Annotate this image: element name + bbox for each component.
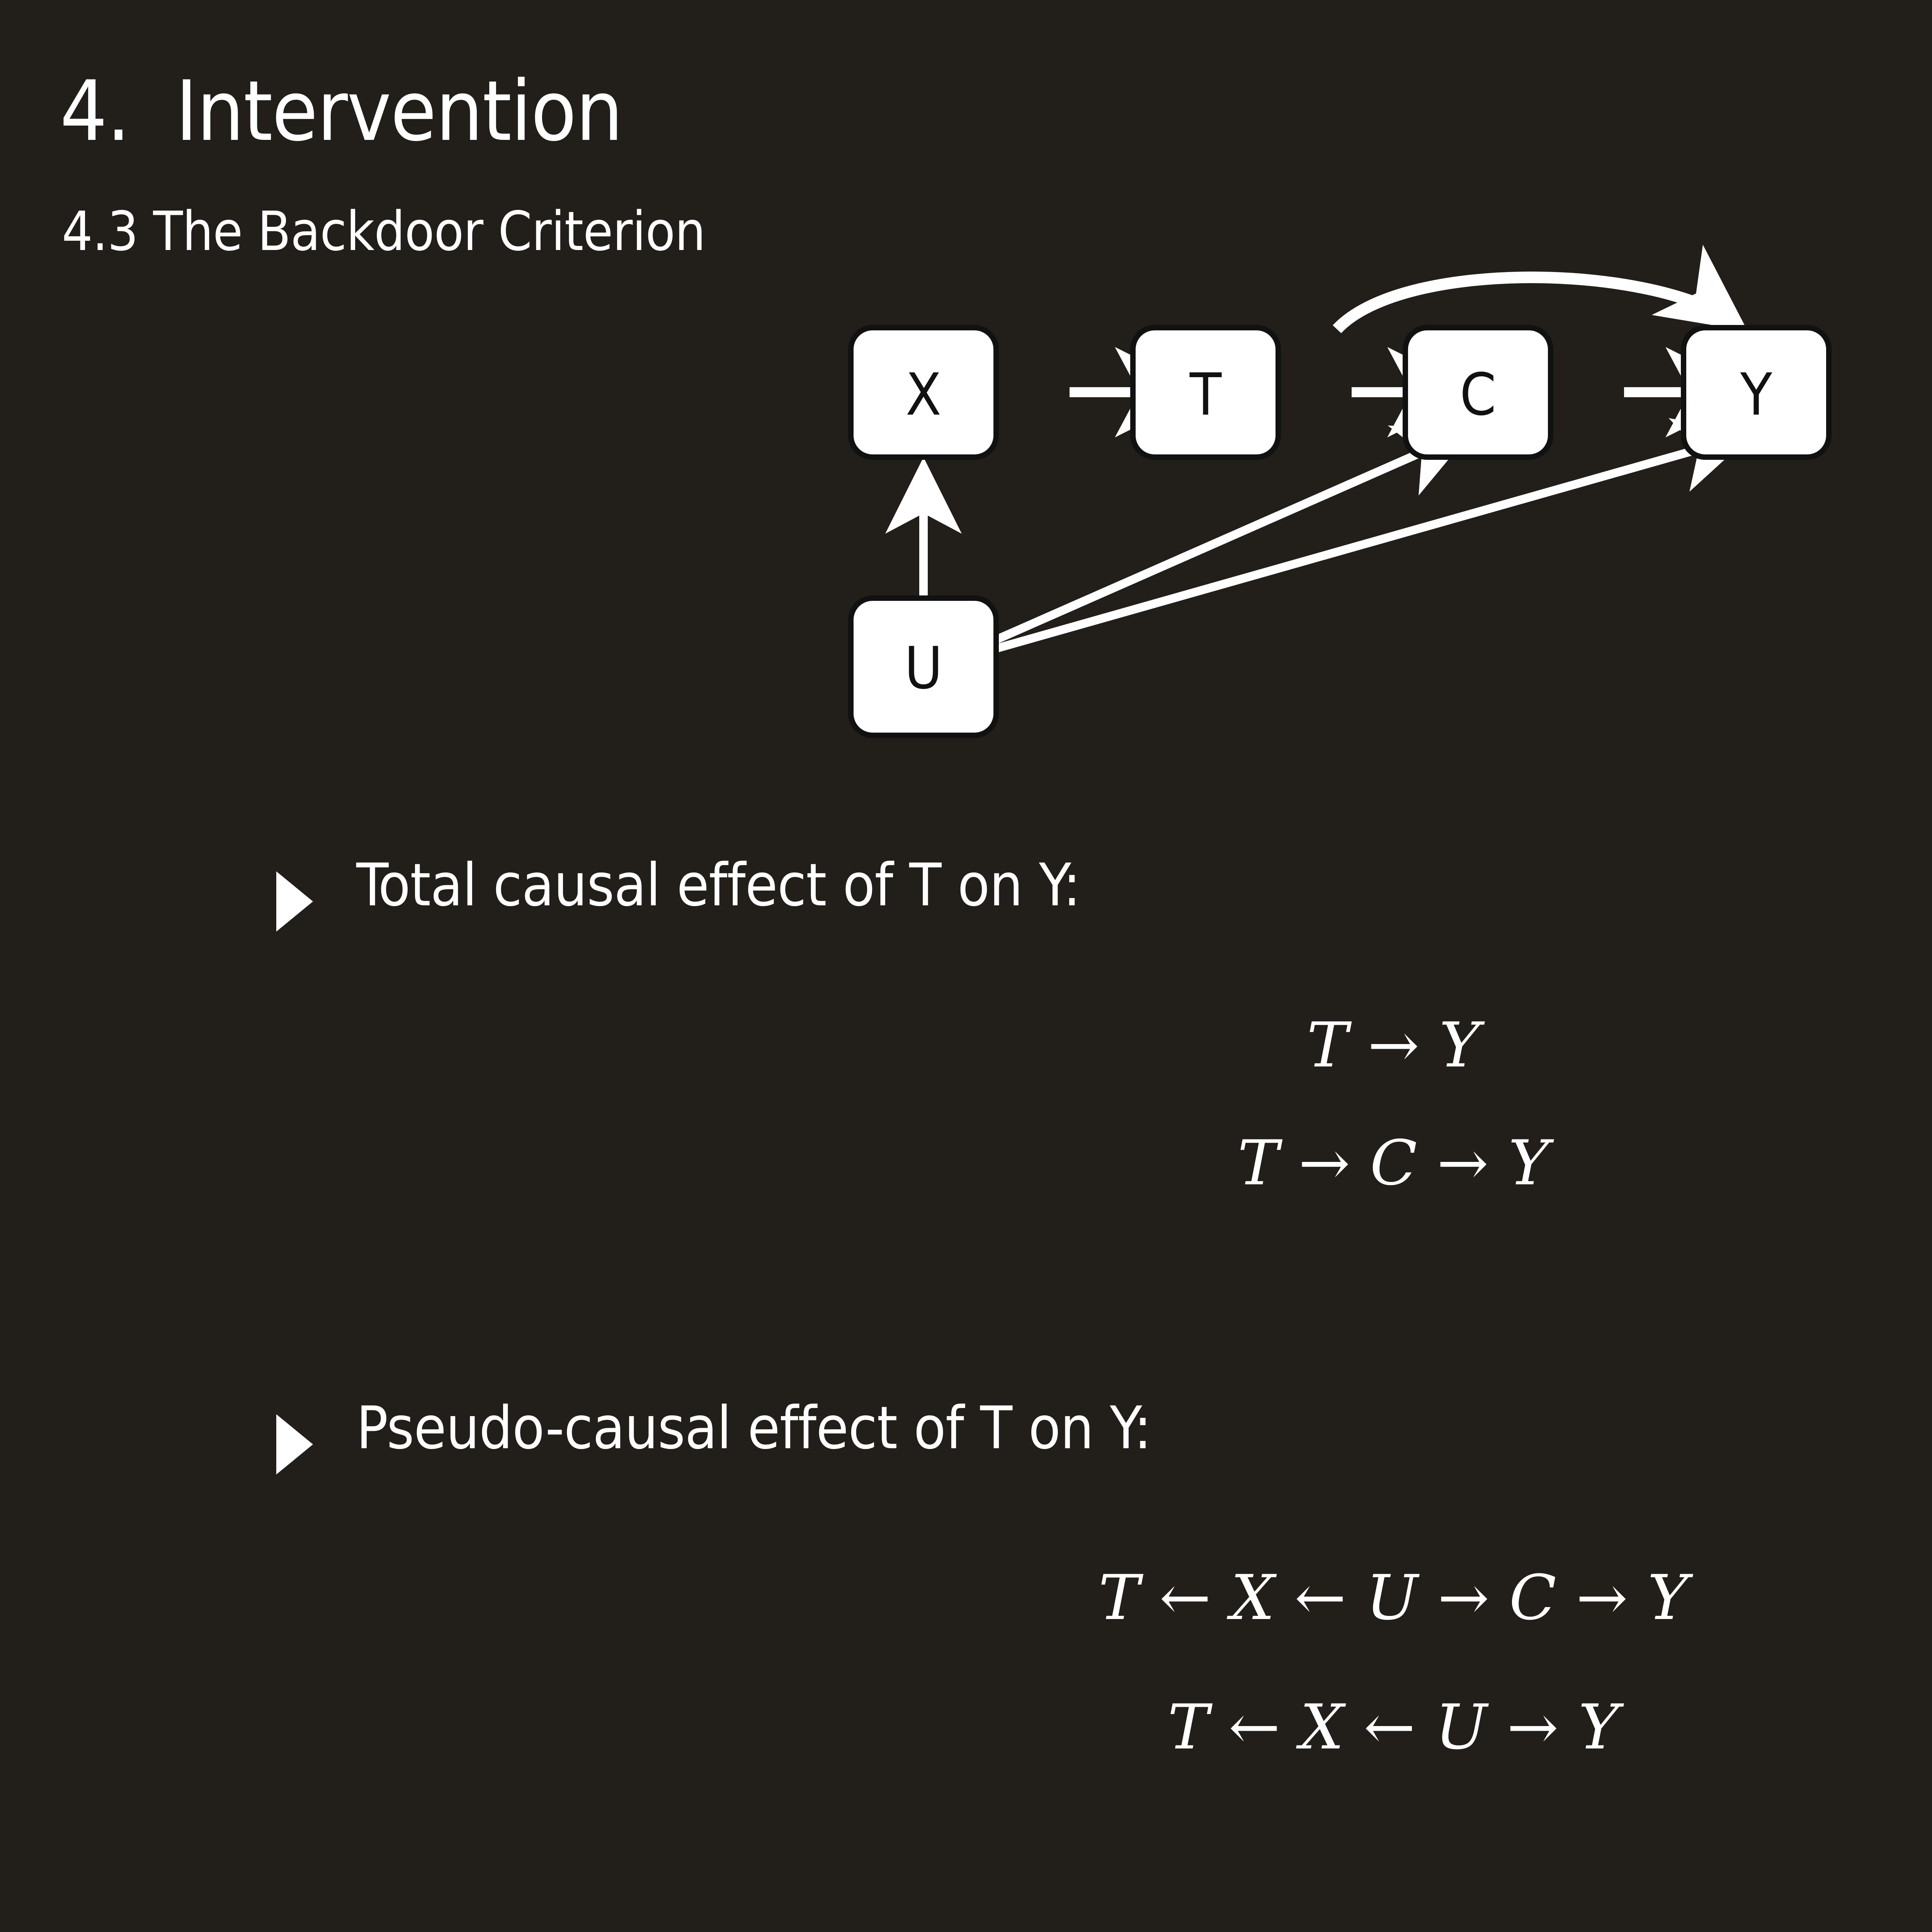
dag-node-u[interactable]: U — [851, 598, 996, 735]
edge-u-to-y — [994, 437, 1743, 649]
dag-node-x[interactable]: X — [851, 328, 996, 457]
list-item: Total causal effect of T on Y: — [276, 856, 1080, 932]
dag-node-t-label: T — [1189, 361, 1222, 429]
bullet-label-total-effect: Total causal effect of T on Y: — [356, 856, 1080, 915]
math-total-effect-line-1: T → Y — [0, 1014, 1932, 1076]
bullet-label-pseudo-effect: Pseudo-causal effect of T on Y: — [356, 1399, 1151, 1458]
page-subtitle: 4.3 The Backdoor Criterion — [62, 205, 705, 259]
dag-node-c[interactable]: C — [1405, 328, 1551, 457]
math-pseudo-effect-line-2: T ← X ← U → Y — [0, 1696, 1932, 1758]
math-pseudo-effect-line-1: T ← X ← U → C → Y — [0, 1567, 1932, 1629]
dag-node-y-label: Y — [1740, 361, 1772, 429]
edge-t-to-y-curved — [1337, 277, 1739, 329]
triangle-right-icon — [276, 871, 313, 932]
dag-node-u-label: U — [905, 635, 943, 702]
dag-node-t[interactable]: T — [1133, 328, 1278, 457]
dag-node-x-label: X — [906, 361, 941, 429]
dag-node-y[interactable]: Y — [1684, 328, 1829, 457]
dag-canvas: X T C Y U — [889, 309, 1932, 831]
math-total-effect-line-2: T → C → Y — [0, 1132, 1932, 1194]
page-title: 4. Intervention — [60, 70, 622, 153]
causal-dag-diagram: X T C Y U — [889, 309, 1932, 831]
dag-node-c-label: C — [1460, 361, 1496, 429]
triangle-right-icon — [276, 1414, 313, 1475]
list-item: Pseudo-causal effect of T on Y: — [276, 1399, 1151, 1475]
